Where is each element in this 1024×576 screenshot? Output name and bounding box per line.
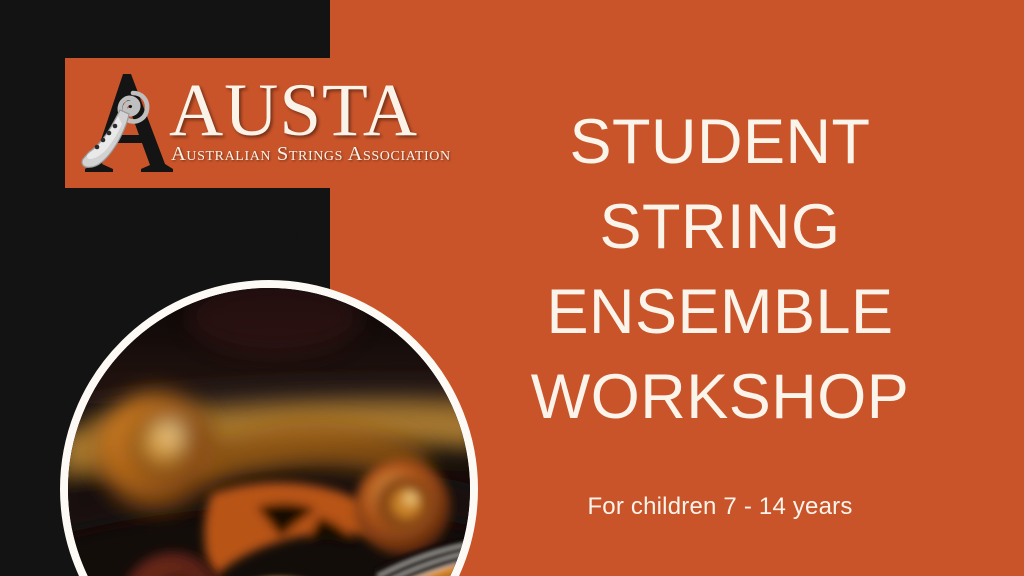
poster-canvas: AUSTA Australian Strings Association [0,0,1024,576]
violin-scroll-letter-a-icon [73,70,181,176]
austa-logo-text: AUSTA Australian Strings Association [169,79,451,168]
age-range-subtitle: For children 7 - 14 years [520,492,920,522]
headline-line-2: STRING [520,185,920,270]
austa-logo: AUSTA Australian Strings Association [65,58,465,188]
headline-line-4: WORKSHOP [520,355,920,440]
title-block: STUDENT STRING ENSEMBLE WORKSHOP For chi… [520,100,920,522]
headline-line-3: ENSEMBLE [520,270,920,355]
headline-line-1: STUDENT [520,100,920,185]
austa-tagline: Australian Strings Association [171,143,451,166]
austa-wordmark: AUSTA [169,79,418,142]
